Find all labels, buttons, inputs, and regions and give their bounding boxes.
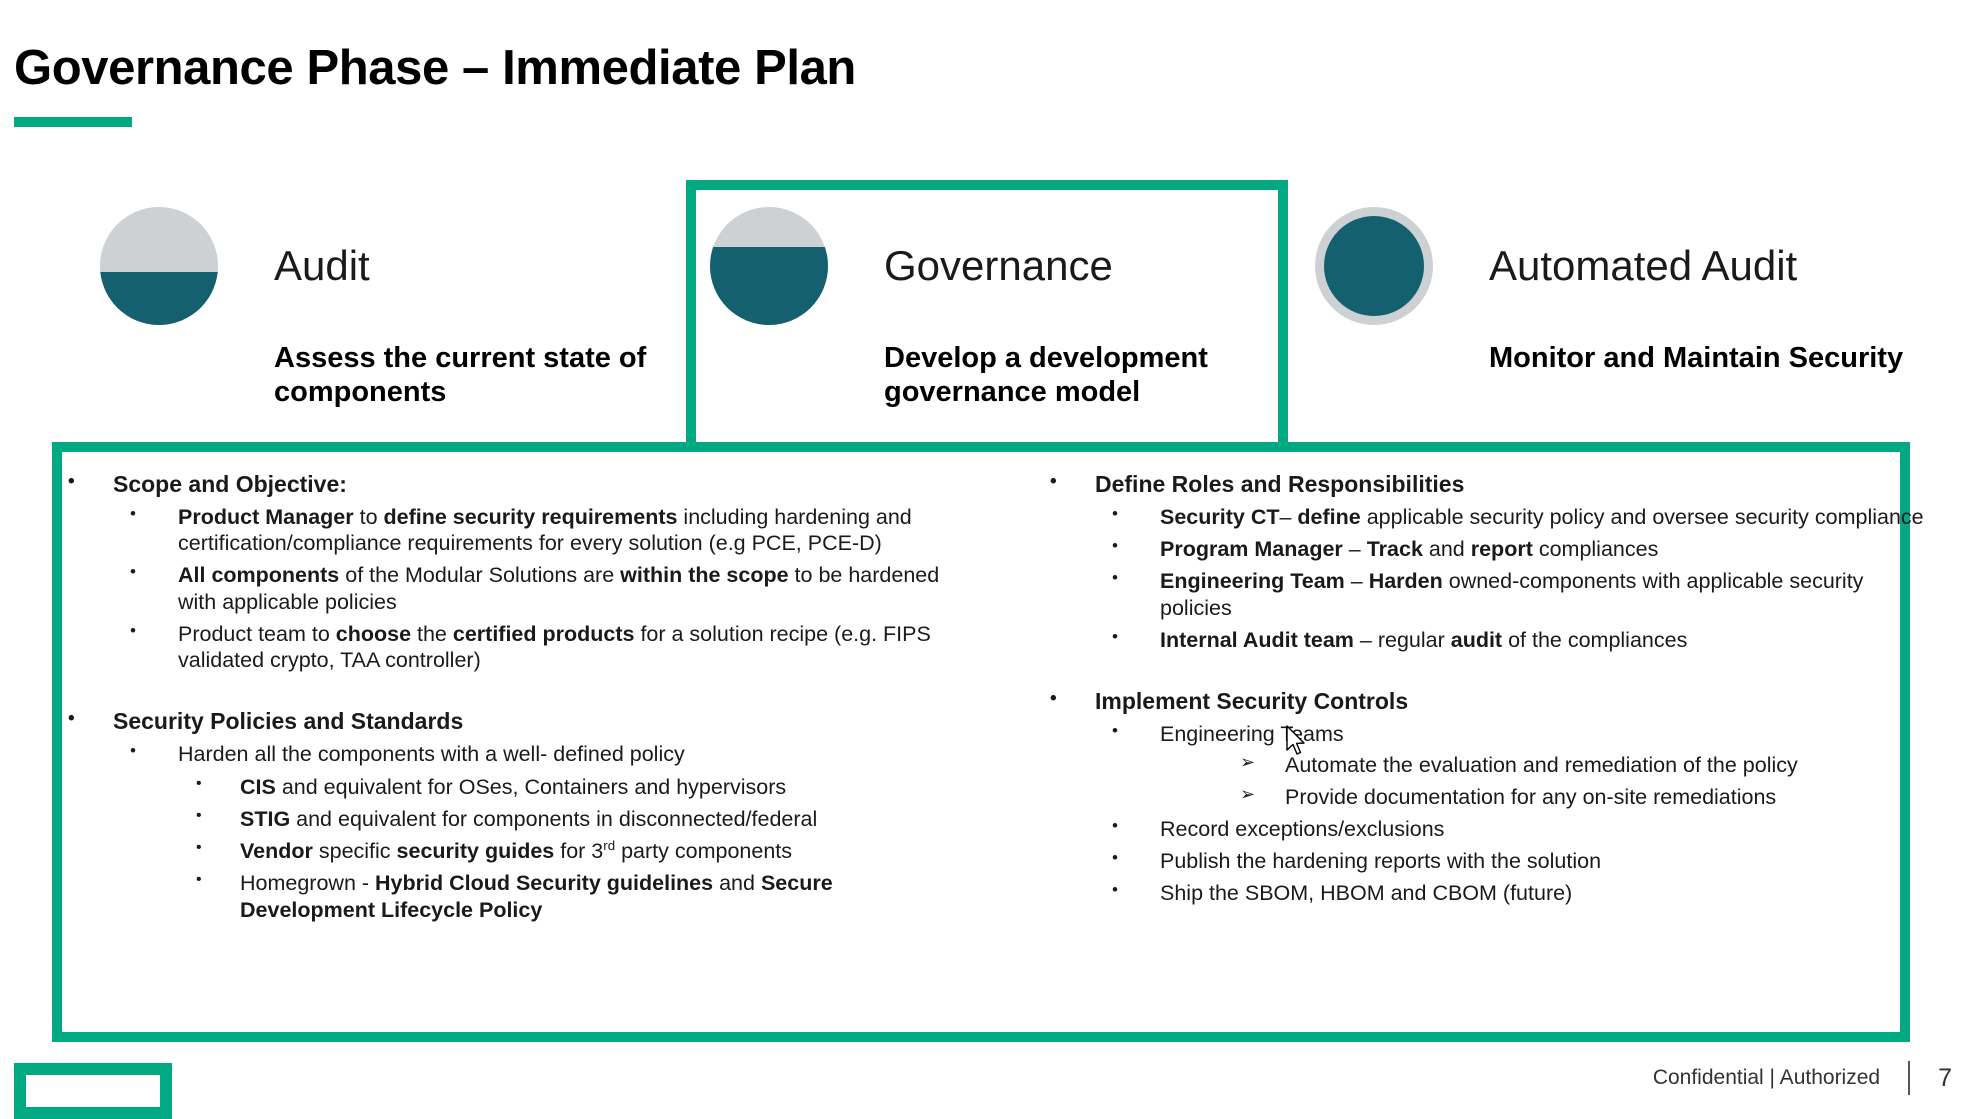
list-item: • STIG and equivalent for components in … — [68, 806, 948, 832]
bullet-body: STIG and equivalent for components in di… — [240, 806, 948, 832]
bullet-arrow-icon: ➢ — [1050, 784, 1285, 806]
list-item: • Implement Security Controls — [1050, 687, 1930, 715]
bullet-body: Record exceptions/exclusions — [1160, 816, 1930, 842]
phase-top-row: Audit — [100, 205, 694, 327]
bullet-dot-icon: • — [68, 621, 178, 642]
phase-header-automated-audit: Automated Audit Monitor and Maintain Sec… — [1315, 205, 1903, 375]
list-item: • All components of the Modular Solution… — [68, 562, 948, 614]
bullet-heading: Scope and Objective: — [113, 470, 948, 498]
bullet-dot-icon: • — [68, 707, 113, 730]
bullet-body: Automate the evaluation and remediation … — [1285, 752, 1930, 778]
slide-footer: Confidential | Authorized 7 — [1653, 1061, 1952, 1095]
bullet-body: Harden all the components with a well- d… — [178, 741, 948, 767]
list-item: • Product team to choose the certified p… — [68, 621, 948, 673]
phase-name-label: Audit — [274, 242, 370, 290]
list-item: ➢ Automate the evaluation and remediatio… — [1050, 752, 1930, 778]
bullet-dot-icon: • — [1050, 848, 1160, 869]
phase-header-audit: Audit Assess the current state of compon… — [100, 205, 694, 409]
right-content-column: • Define Roles and Responsibilities • Se… — [1050, 470, 1930, 907]
bullet-dot-icon: • — [1050, 504, 1160, 525]
title-accent-underline — [14, 117, 132, 127]
full-filled-circle-icon — [1315, 207, 1433, 325]
bullet-body: Security CT– define applicable security … — [1160, 504, 1930, 530]
bullet-body: Engineering Teams — [1160, 721, 1930, 747]
bullet-dot-icon: • — [1050, 470, 1095, 493]
bullet-body: Program Manager – Track and report compl… — [1160, 536, 1930, 562]
list-item: • Engineering Teams — [1050, 721, 1930, 747]
bullet-heading: Implement Security Controls — [1095, 687, 1930, 715]
list-item: • Security Policies and Standards — [68, 707, 948, 735]
bullet-dot-icon: • — [68, 562, 178, 583]
bullet-dot-icon: • — [1050, 816, 1160, 837]
phase-name-label: Automated Audit — [1489, 242, 1797, 290]
bullet-dot-icon: • — [1050, 880, 1160, 901]
list-item: • Program Manager – Track and report com… — [1050, 536, 1930, 562]
bullet-body: All components of the Modular Solutions … — [178, 562, 948, 614]
bullet-body: Product Manager to define security requi… — [178, 504, 948, 556]
list-item: • Internal Audit team – regular audit of… — [1050, 627, 1930, 653]
list-item: • Publish the hardening reports with the… — [1050, 848, 1930, 874]
bullet-body: Internal Audit team – regular audit of t… — [1160, 627, 1930, 653]
list-item: ➢ Provide documentation for any on-site … — [1050, 784, 1930, 810]
half-filled-circle-icon — [100, 207, 218, 325]
bullet-body: Publish the hardening reports with the s… — [1160, 848, 1930, 874]
group-spacer — [68, 673, 948, 707]
group-spacer — [1050, 653, 1930, 687]
bullet-dot-icon: • — [68, 806, 240, 826]
bullet-body: Product team to choose the certified pro… — [178, 621, 948, 673]
bullet-dot-icon: • — [68, 470, 113, 493]
bullet-body: Engineering Team – Harden owned-componen… — [1160, 568, 1930, 620]
bullet-body: Vendor specific security guides for 3rd … — [240, 838, 948, 864]
phase-top-row: Automated Audit — [1315, 205, 1903, 327]
list-item: • Define Roles and Responsibilities — [1050, 470, 1930, 498]
list-item: • Scope and Objective: — [68, 470, 948, 498]
list-item: • Homegrown - Hybrid Cloud Security guid… — [68, 870, 948, 922]
list-item: • Ship the SBOM, HBOM and CBOM (future) — [1050, 880, 1930, 906]
bullet-body: Ship the SBOM, HBOM and CBOM (future) — [1160, 880, 1930, 906]
bullet-dot-icon: • — [1050, 627, 1160, 648]
bullet-dot-icon: • — [1050, 721, 1160, 742]
list-item: • Record exceptions/exclusions — [1050, 816, 1930, 842]
governance-highlight-box — [686, 180, 1288, 452]
bullet-dot-icon: • — [1050, 568, 1160, 589]
list-item: • Security CT– define applicable securit… — [1050, 504, 1930, 530]
bullet-dot-icon: • — [68, 838, 240, 858]
confidentiality-label: Confidential | Authorized — [1653, 1066, 1880, 1090]
bullet-dot-icon: • — [1050, 536, 1160, 557]
bullet-body: CIS and equivalent for OSes, Containers … — [240, 774, 948, 800]
list-item: • Product Manager to define security req… — [68, 504, 948, 556]
list-item: • Engineering Team – Harden owned-compon… — [1050, 568, 1930, 620]
bullet-heading: Define Roles and Responsibilities — [1095, 470, 1930, 498]
bullet-heading: Security Policies and Standards — [113, 707, 948, 735]
bullet-body: Homegrown - Hybrid Cloud Security guidel… — [240, 870, 948, 922]
hpe-logo — [14, 1063, 172, 1119]
page-number: 7 — [1938, 1064, 1952, 1093]
page-title: Governance Phase – Immediate Plan — [14, 40, 856, 96]
list-item: • Vendor specific security guides for 3r… — [68, 838, 948, 864]
bullet-dot-icon: • — [1050, 687, 1095, 710]
bullet-dot-icon: • — [68, 774, 240, 794]
bullet-arrow-icon: ➢ — [1050, 752, 1285, 774]
bullet-dot-icon: • — [68, 741, 178, 762]
phase-subtitle: Monitor and Maintain Security — [1489, 341, 1903, 375]
bullet-dot-icon: • — [68, 504, 178, 525]
list-item: • CIS and equivalent for OSes, Container… — [68, 774, 948, 800]
list-item: • Harden all the components with a well-… — [68, 741, 948, 767]
bullet-body: Provide documentation for any on-site re… — [1285, 784, 1930, 810]
phase-subtitle: Assess the current state of components — [274, 341, 694, 409]
bullet-dot-icon: • — [68, 870, 240, 890]
footer-divider — [1908, 1061, 1910, 1095]
left-content-column: • Scope and Objective: • Product Manager… — [68, 470, 948, 923]
